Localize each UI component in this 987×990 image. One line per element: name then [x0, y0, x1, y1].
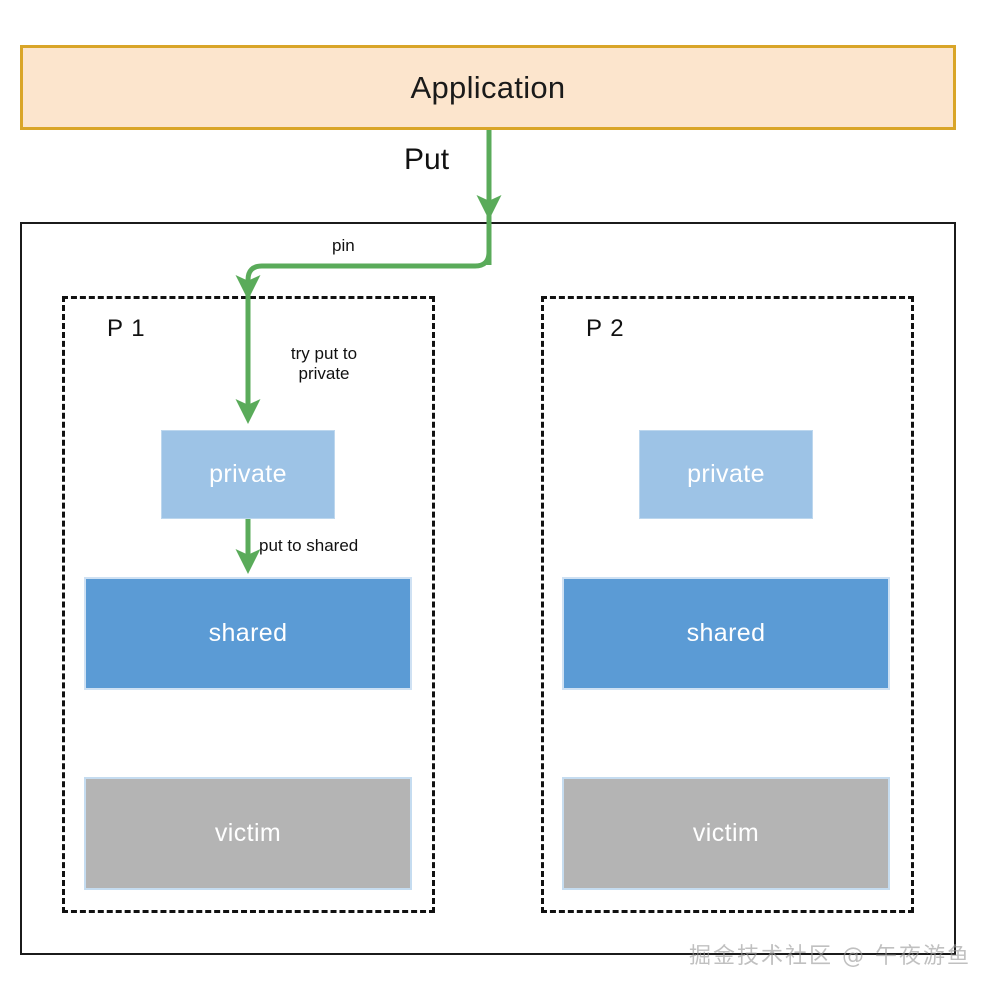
p1-private-block: private — [161, 430, 335, 519]
flow-label-pin: pin — [332, 236, 355, 256]
application-box: Application — [20, 45, 956, 130]
p1-private-label: private — [209, 460, 287, 489]
p2-victim-block: victim — [562, 777, 890, 890]
p2-private-block: private — [639, 430, 813, 519]
application-label: Application — [411, 70, 566, 106]
partition-p1-label: P 1 — [107, 315, 146, 343]
partition-p2-label: P 2 — [586, 315, 625, 343]
watermark-text: 掘金技术社区 @ 午夜游鱼 — [689, 938, 971, 970]
flow-label-put-to-shared: put to shared — [259, 536, 358, 556]
p2-shared-label: shared — [687, 619, 766, 648]
p1-victim-label: victim — [215, 819, 281, 848]
diagram-canvas: Application P 1 P 2 private shared victi… — [0, 0, 987, 990]
p1-shared-block: shared — [84, 577, 412, 690]
flow-label-put: Put — [404, 143, 449, 178]
p2-victim-label: victim — [693, 819, 759, 848]
p2-shared-block: shared — [562, 577, 890, 690]
p1-victim-block: victim — [84, 777, 412, 890]
p2-private-label: private — [687, 460, 765, 489]
flow-label-try-put-to-private: try put to private — [266, 344, 382, 383]
p1-shared-label: shared — [209, 619, 288, 648]
